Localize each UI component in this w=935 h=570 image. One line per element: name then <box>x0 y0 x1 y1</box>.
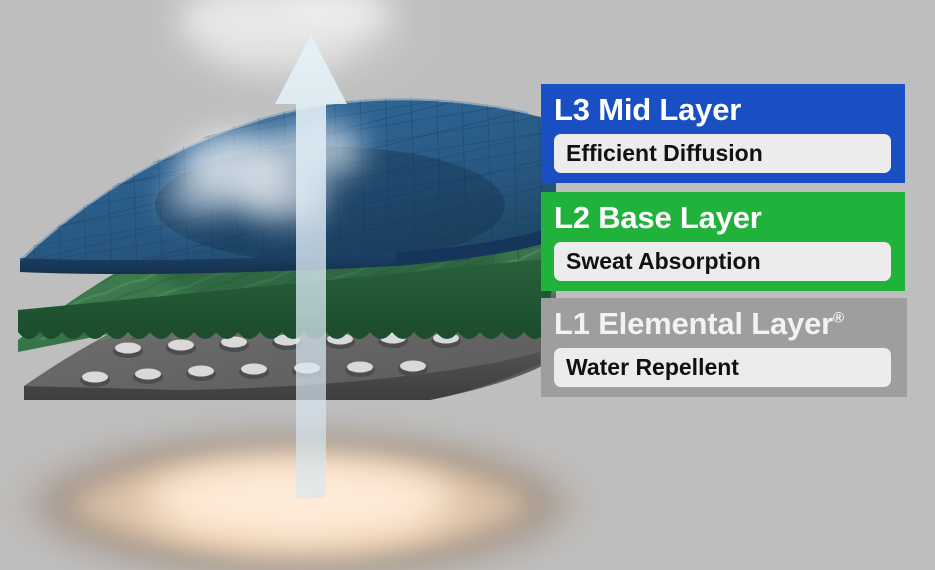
callout-l1-title: L1 Elemental Layer® <box>554 305 894 343</box>
callout-l3-subtitle: Efficient Diffusion <box>554 134 891 173</box>
callout-l2-base-layer[interactable]: L2 Base Layer Sweat Absorption <box>541 192 905 291</box>
callout-l2-title: L2 Base Layer <box>554 199 892 237</box>
layer-callout-stack: L3 Mid Layer Efficient Diffusion L2 Base… <box>541 84 907 397</box>
callout-l3-mid-layer[interactable]: L3 Mid Layer Efficient Diffusion <box>541 84 905 183</box>
callout-l3-title: L3 Mid Layer <box>554 91 892 129</box>
callout-l1-subtitle: Water Repellent <box>554 348 891 387</box>
registered-trademark-icon: ® <box>833 310 844 327</box>
diagram-canvas: L3 Mid Layer Efficient Diffusion L2 Base… <box>0 0 935 570</box>
callout-l1-elemental-layer[interactable]: L1 Elemental Layer® Water Repellent <box>541 298 907 397</box>
callout-l2-subtitle: Sweat Absorption <box>554 242 891 281</box>
